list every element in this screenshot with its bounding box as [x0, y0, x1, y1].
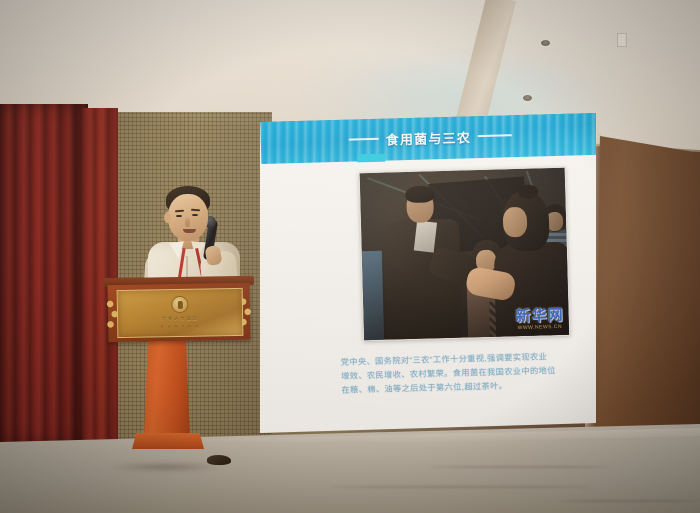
slide-band-tab — [357, 154, 385, 163]
podium-stem — [144, 339, 190, 437]
slide-photo: 新华网 WWW.NEWS.CN — [359, 167, 570, 342]
floor-scuff — [560, 500, 700, 502]
podium-emblem-icon — [171, 296, 188, 313]
projection-screen: 食用菌与三农 — [260, 113, 596, 433]
podium-front-panel: 华美达大酒店 R A M A D A — [108, 283, 251, 342]
title-rule-left — [349, 138, 379, 140]
title-rule-right — [478, 134, 512, 136]
slide-title: 食用菌与三农 — [385, 127, 471, 148]
ceiling-vent-icon — [617, 33, 627, 47]
downlight-icon — [541, 40, 550, 46]
podium: 华美达大酒店 R A M A D A — [108, 277, 250, 467]
watermark-url: WWW.NEWS.CN — [516, 324, 564, 331]
podium-base — [132, 433, 204, 449]
watermark-text: 新华网 — [515, 308, 563, 324]
podium-name-plate-sub: R A M A D A — [118, 323, 242, 329]
speaker-mouth — [183, 229, 196, 233]
speaker-nose — [185, 218, 190, 227]
podium-gold-inlay: 华美达大酒店 R A M A D A — [117, 288, 244, 338]
stage-curtain-left — [0, 104, 88, 444]
floor-scuff — [330, 486, 590, 488]
slide-body-text: 党中央、国务院对“三农”工作十分重视,强调要实现农业 增效、农民增收、农村繁荣。… — [341, 349, 604, 398]
podium-name-plate: 华美达大酒店 — [118, 315, 242, 323]
slide-title-row: 食用菌与三农 — [348, 118, 579, 154]
downlight-icon — [523, 95, 532, 101]
floor-scuff — [430, 466, 610, 468]
xinhua-watermark: 新华网 WWW.NEWS.CN — [515, 308, 564, 331]
conference-hall-photo: 食用菌与三农 — [0, 0, 700, 513]
right-wall-panel — [592, 136, 700, 446]
speaker-ear — [164, 212, 171, 223]
